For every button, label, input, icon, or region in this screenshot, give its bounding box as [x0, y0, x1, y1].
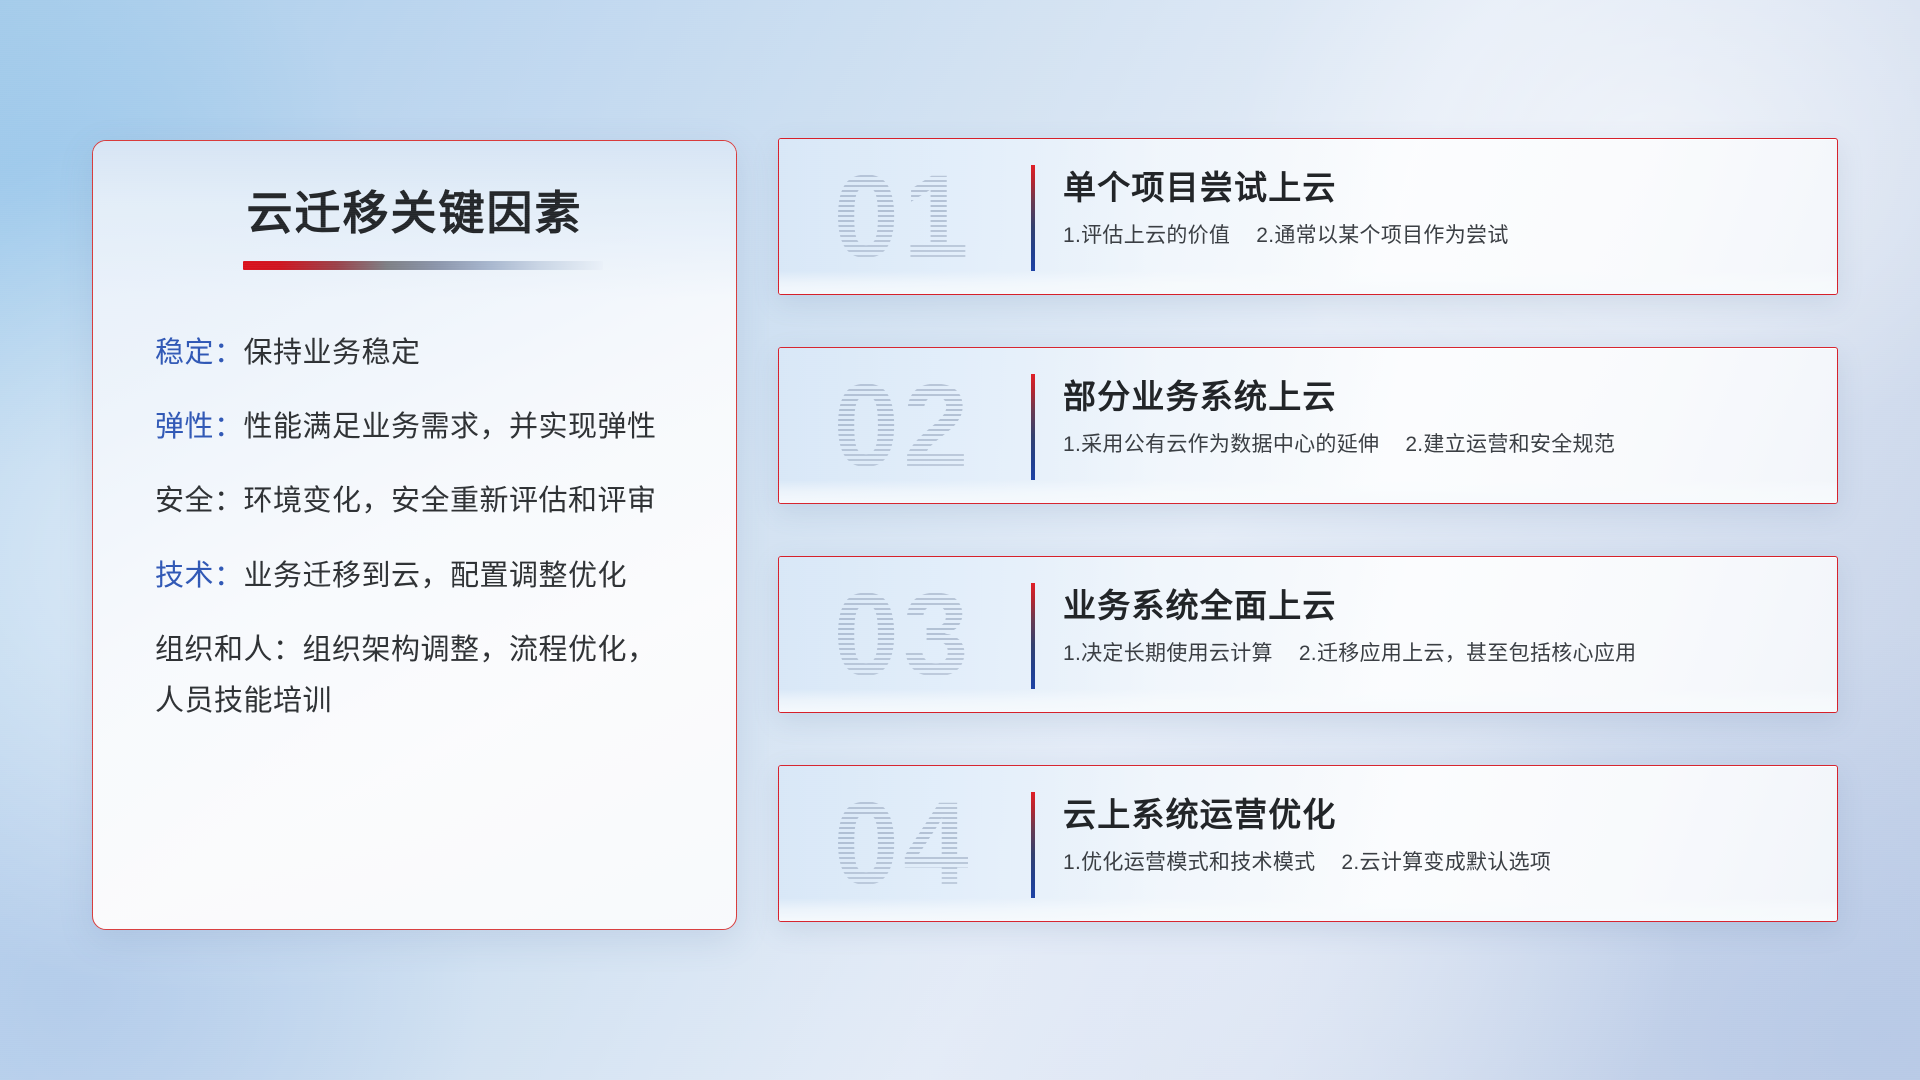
- factor-item: 组织和人：组织架构调整，流程优化，: [155, 630, 688, 671]
- stage-point-1: 1.采用公有云作为数据中心的延伸: [1063, 433, 1379, 456]
- stage-point-1: 1.评估上云的价值: [1063, 224, 1230, 247]
- stage-body: 部分业务系统上云1.采用公有云作为数据中心的延伸2.建立运营和安全规范: [1063, 370, 1811, 458]
- stage-number-text: 03: [833, 569, 972, 701]
- key-factors-list: 稳定：保持业务稳定弹性：性能满足业务需求，并实现弹性安全：环境变化，安全重新评估…: [155, 333, 688, 732]
- stage-body: 云上系统运营优化1.优化运营模式和技术模式2.云计算变成默认选项: [1063, 788, 1811, 876]
- factor-item: 人员技能培训: [155, 681, 688, 722]
- factor-label: 稳定：: [155, 337, 244, 369]
- stage-title: 单个项目尝试上云: [1063, 161, 1811, 209]
- stage-point-2: 2.通常以某个项目作为尝试: [1256, 224, 1508, 247]
- stage-divider-bar: [1031, 165, 1035, 271]
- stage-point-1: 1.优化运营模式和技术模式: [1063, 851, 1315, 874]
- stage-description: 1.采用公有云作为数据中心的延伸2.建立运营和安全规范: [1063, 428, 1811, 458]
- factor-text: 业务迁移到云，配置调整优化: [244, 560, 628, 592]
- stage-point-2: 2.迁移应用上云，甚至包括核心应用: [1299, 642, 1637, 665]
- factor-item: 技术：业务迁移到云，配置调整优化: [155, 556, 688, 597]
- factor-item: 弹性：性能满足业务需求，并实现弹性: [155, 407, 688, 448]
- factor-item: 安全：环境变化，安全重新评估和评审: [155, 481, 688, 522]
- factor-label: 弹性：: [155, 411, 244, 443]
- stage-divider-bar: [1031, 792, 1035, 898]
- stage-title: 部分业务系统上云: [1063, 370, 1811, 418]
- stage-number-text: 02: [833, 360, 972, 492]
- factor-text: 组织架构调整，流程优化，: [303, 634, 657, 666]
- cloud-migration-stages: 01单个项目尝试上云1.评估上云的价值2.通常以某个项目作为尝试02部分业务系统…: [778, 138, 1838, 974]
- slide-canvas: 云迁移关键因素 稳定：保持业务稳定弹性：性能满足业务需求，并实现弹性安全：环境变…: [0, 0, 1920, 1080]
- stage-card[interactable]: 01单个项目尝试上云1.评估上云的价值2.通常以某个项目作为尝试: [778, 138, 1838, 295]
- stage-number-text: 01: [833, 151, 972, 283]
- stage-number-text: 04: [833, 778, 972, 910]
- stage-divider-bar: [1031, 374, 1035, 480]
- stage-body: 业务系统全面上云1.决定长期使用云计算2.迁移应用上云，甚至包括核心应用: [1063, 579, 1811, 667]
- title-underline-rule: [243, 261, 603, 270]
- stage-card[interactable]: 03业务系统全面上云1.决定长期使用云计算2.迁移应用上云，甚至包括核心应用: [778, 556, 1838, 713]
- factor-label: 安全：: [155, 485, 244, 517]
- factor-text: 环境变化，安全重新评估和评审: [244, 485, 657, 517]
- stage-body: 单个项目尝试上云1.评估上云的价值2.通常以某个项目作为尝试: [1063, 161, 1811, 249]
- key-factors-panel: 云迁移关键因素 稳定：保持业务稳定弹性：性能满足业务需求，并实现弹性安全：环境变…: [92, 140, 737, 930]
- page-title: 云迁移关键因素: [93, 177, 736, 243]
- stage-description: 1.优化运营模式和技术模式2.云计算变成默认选项: [1063, 846, 1811, 876]
- stage-point-2: 2.建立运营和安全规范: [1405, 433, 1615, 456]
- stage-number-watermark: 04: [803, 774, 1003, 914]
- stage-number-watermark: 03: [803, 565, 1003, 705]
- stage-title: 云上系统运营优化: [1063, 788, 1811, 836]
- factor-item: 稳定：保持业务稳定: [155, 333, 688, 374]
- stage-number-watermark: 01: [803, 147, 1003, 287]
- stage-description: 1.决定长期使用云计算2.迁移应用上云，甚至包括核心应用: [1063, 637, 1811, 667]
- stage-card[interactable]: 02部分业务系统上云1.采用公有云作为数据中心的延伸2.建立运营和安全规范: [778, 347, 1838, 504]
- factor-text: 性能满足业务需求，并实现弹性: [244, 411, 657, 443]
- stage-card[interactable]: 04云上系统运营优化1.优化运营模式和技术模式2.云计算变成默认选项: [778, 765, 1838, 922]
- factor-label: 组织和人：: [155, 634, 303, 666]
- stage-title: 业务系统全面上云: [1063, 579, 1811, 627]
- stage-number-watermark: 02: [803, 356, 1003, 496]
- stage-point-2: 2.云计算变成默认选项: [1341, 851, 1551, 874]
- factor-label: 技术：: [155, 560, 244, 592]
- factor-text: 保持业务稳定: [244, 337, 421, 369]
- stage-description: 1.评估上云的价值2.通常以某个项目作为尝试: [1063, 219, 1811, 249]
- stage-point-1: 1.决定长期使用云计算: [1063, 642, 1273, 665]
- factor-text: 人员技能培训: [155, 685, 332, 717]
- stage-divider-bar: [1031, 583, 1035, 689]
